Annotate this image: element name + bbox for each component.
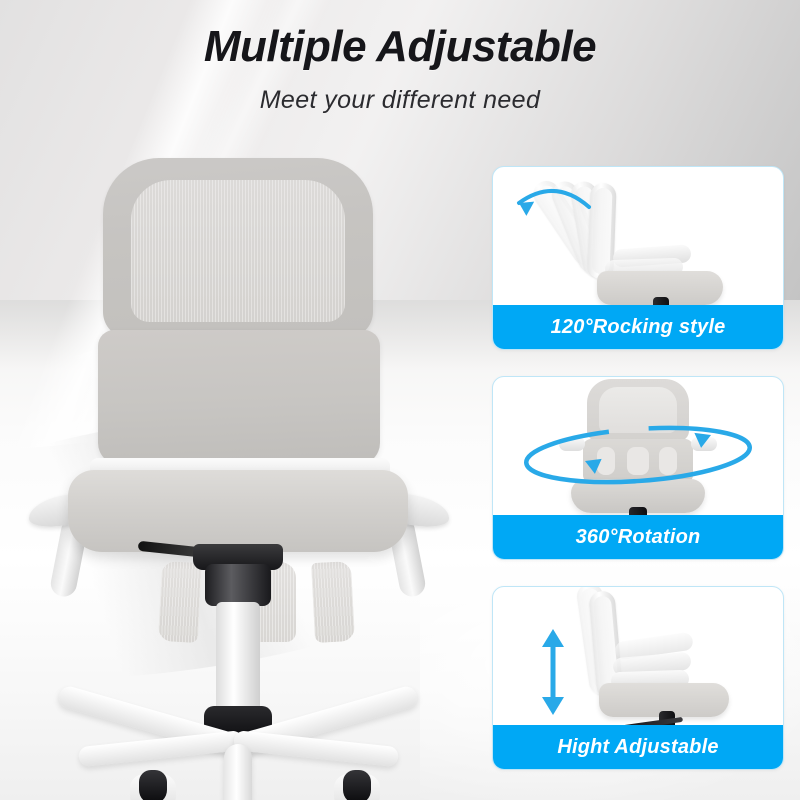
gas-cylinder-cover [205,564,271,606]
product-feature-graphic: Multiple Adjustable Meet your different … [0,0,800,800]
base-spoke [224,744,252,800]
rotation-illustration [493,377,783,515]
backrest-mesh-panel [131,180,345,322]
rocking-illustration [493,167,783,305]
rotation-arrow-svg [493,377,783,515]
rocking-arrow-svg [493,167,783,305]
feature-label-rocking: 120°Rocking style [493,305,783,349]
feature-label-rotation: 360°Rotation [493,515,783,559]
lumbar-pad-left [158,561,202,643]
seat-cushion [68,470,408,552]
height-illustration [493,587,783,725]
feature-label-height: Hight Adjustable [493,725,783,769]
five-star-base [18,700,468,800]
main-product-image [18,140,468,790]
page-subtitle: Meet your different need [0,86,800,115]
lumbar-support-section [98,330,380,465]
feature-panel-rotation: 360°Rotation [492,376,784,560]
lumbar-pad-right [311,561,355,643]
feature-panel-height: Hight Adjustable [492,586,784,770]
gas-lift-cylinder [216,602,260,712]
mesh-backrest [103,158,373,338]
feature-panel-rocking: 120°Rocking style [492,166,784,350]
height-arrow-svg [493,587,783,725]
caster-wheel [130,768,176,800]
caster-wheel [334,768,380,800]
base-spoke [233,730,399,767]
page-title: Multiple Adjustable [0,22,800,72]
base-spoke [78,730,244,767]
